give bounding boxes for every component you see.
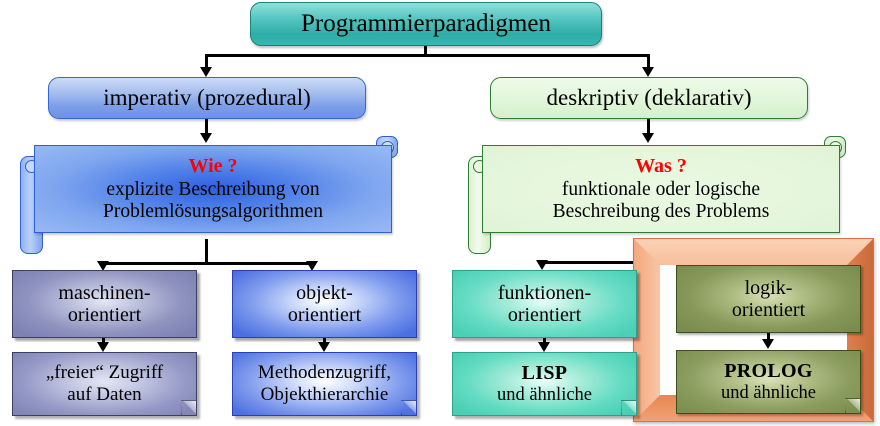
arrow-logic-to-leaf: [762, 339, 774, 349]
method-access-box[interactable]: Methodenzugriff, Objekthierarchie: [232, 352, 417, 416]
arrow-functional-to-leaf: [538, 342, 550, 352]
object-oriented-line2: orientiert: [288, 304, 361, 326]
machine-oriented-box[interactable]: maschinen- orientiert: [12, 270, 197, 338]
descriptive-scroll[interactable]: Was ? funktionale oder logische Beschrei…: [460, 136, 840, 244]
title-label: Programmierparadigmen: [301, 10, 551, 38]
imperative-label: imperativ (prozedural): [103, 85, 311, 111]
prolog-label: PROLOG: [724, 360, 812, 383]
imperative-box[interactable]: imperativ (prozedural): [48, 77, 366, 119]
descriptive-label: deskriptiv (deklarativ): [546, 85, 751, 111]
lisp-box[interactable]: LISP und ähnliche: [452, 352, 637, 416]
lisp-label: LISP: [522, 362, 568, 385]
diagram-canvas: Programmierparadigmen imperativ (prozedu…: [0, 0, 880, 426]
prolog-sublabel: und ähnliche: [721, 383, 816, 404]
logic-oriented-box[interactable]: logik- orientiert: [676, 265, 861, 333]
lisp-sublabel: und ähnliche: [497, 385, 592, 406]
logic-oriented-line2: orientiert: [732, 299, 805, 321]
folded-corner-icon: [845, 398, 860, 413]
descriptive-scroll-line1: funktionale oder logische: [562, 179, 760, 201]
descriptive-box[interactable]: deskriptiv (deklarativ): [490, 77, 808, 119]
arrow-machine-to-leaf: [97, 342, 109, 352]
function-oriented-box[interactable]: funktionen- orientiert: [452, 270, 637, 338]
title-box[interactable]: Programmierparadigmen: [250, 2, 602, 46]
function-oriented-line1: funktionen-: [498, 282, 591, 304]
highlight-frame-bevel-left: [634, 239, 660, 421]
folded-corner-icon: [401, 400, 416, 415]
arrow-to-functional: [536, 260, 548, 270]
descriptive-scroll-line2: Beschreibung des Problems: [553, 201, 770, 223]
arrow-to-descriptive: [642, 67, 654, 77]
logic-oriented-line1: logik-: [745, 277, 793, 299]
connector-to-imperative: [205, 54, 208, 68]
imperative-scroll-line2: Problemlösungsalgorithmen: [103, 201, 323, 223]
free-data-access-line1: „freier“ Zugriff: [46, 362, 163, 384]
method-access-line1: Methodenzugriff,: [258, 362, 391, 384]
arrow-object-to-leaf: [318, 342, 330, 352]
connector-wie-bus: [102, 262, 314, 265]
machine-oriented-line1: maschinen-: [58, 282, 150, 304]
descriptive-question: Was ?: [635, 155, 687, 178]
arrow-to-imperative: [200, 67, 212, 77]
machine-oriented-line2: orientiert: [68, 304, 141, 326]
object-oriented-line1: objekt-: [296, 282, 353, 304]
free-data-access-box[interactable]: „freier“ Zugriff auf Daten: [12, 352, 197, 416]
connector-title-bus: [205, 54, 649, 57]
folded-corner-icon: [621, 400, 636, 415]
imperative-scroll-line1: explizite Beschreibung von: [106, 179, 319, 201]
prolog-box[interactable]: PROLOG und ähnliche: [676, 350, 861, 414]
method-access-line2: Objekthierarchie: [261, 384, 389, 406]
function-oriented-line2: orientiert: [508, 304, 581, 326]
descriptive-scroll-body: Was ? funktionale oder logische Beschrei…: [482, 145, 840, 233]
imperative-question: Wie ?: [188, 155, 237, 178]
folded-corner-icon: [181, 400, 196, 415]
free-data-access-line2: auf Daten: [67, 384, 141, 406]
imperative-scroll-body: Wie ? explizite Beschreibung von Problem…: [34, 145, 392, 233]
connector-to-descriptive: [647, 54, 650, 68]
imperative-scroll[interactable]: Wie ? explizite Beschreibung von Problem…: [12, 136, 392, 244]
object-oriented-box[interactable]: objekt- orientiert: [232, 270, 417, 338]
